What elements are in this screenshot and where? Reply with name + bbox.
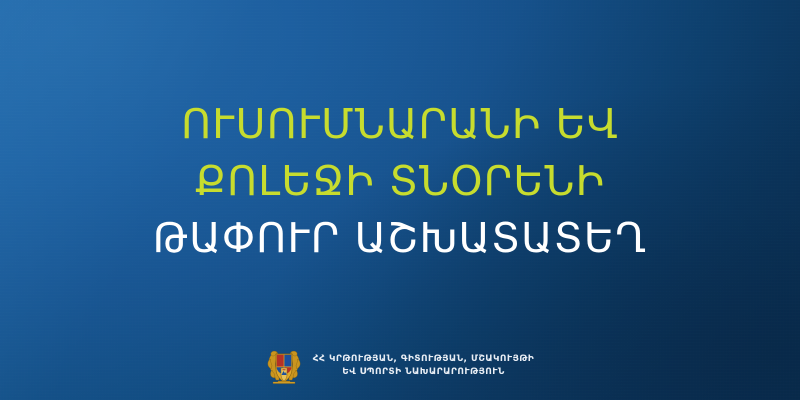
armenia-coat-of-arms-icon <box>266 346 302 386</box>
headline-block: ՈՒՍՈՒՄՆԱՐԱՆԻ ԵՎ ՔՈԼԵՋԻ ՏՆՕՐԵՆԻ ԹԱՓՈՒՐ ԱՇ… <box>0 104 800 259</box>
ministry-name-line-1: ՀՀ ԿՐԹՈՒԹՅԱՆ, ԳԻՏՈՒԹՅԱՆ, ՄՇԱԿՈՒՅԹԻ <box>313 354 535 365</box>
announcement-banner: ՈՒՍՈՒՄՆԱՐԱՆԻ ԵՎ ՔՈԼԵՋԻ ՏՆՕՐԵՆԻ ԹԱՓՈՒՐ ԱՇ… <box>0 0 800 400</box>
ministry-name-line-2: ԵՎ ՍՊՈՐՏԻ ՆԱԽԱՐԱՐՈՒԹՅՈՒՆ <box>342 367 505 378</box>
headline-line-2: ՔՈԼԵՋԻ ՏՆՕՐԵՆԻ <box>0 161 800 202</box>
ministry-name: ՀՀ ԿՐԹՈՒԹՅԱՆ, ԳԻՏՈՒԹՅԱՆ, ՄՇԱԿՈՒՅԹԻ ԵՎ ՍՊ… <box>313 354 535 379</box>
headline-line-3: ԹԱՓՈՒՐ ԱՇԽԱՏԱՏԵՂ <box>0 218 800 259</box>
ministry-footer: ՀՀ ԿՐԹՈՒԹՅԱՆ, ԳԻՏՈՒԹՅԱՆ, ՄՇԱԿՈՒՅԹԻ ԵՎ ՍՊ… <box>0 340 800 392</box>
headline-line-1: ՈՒՍՈՒՄՆԱՐԱՆԻ ԵՎ <box>0 104 800 145</box>
